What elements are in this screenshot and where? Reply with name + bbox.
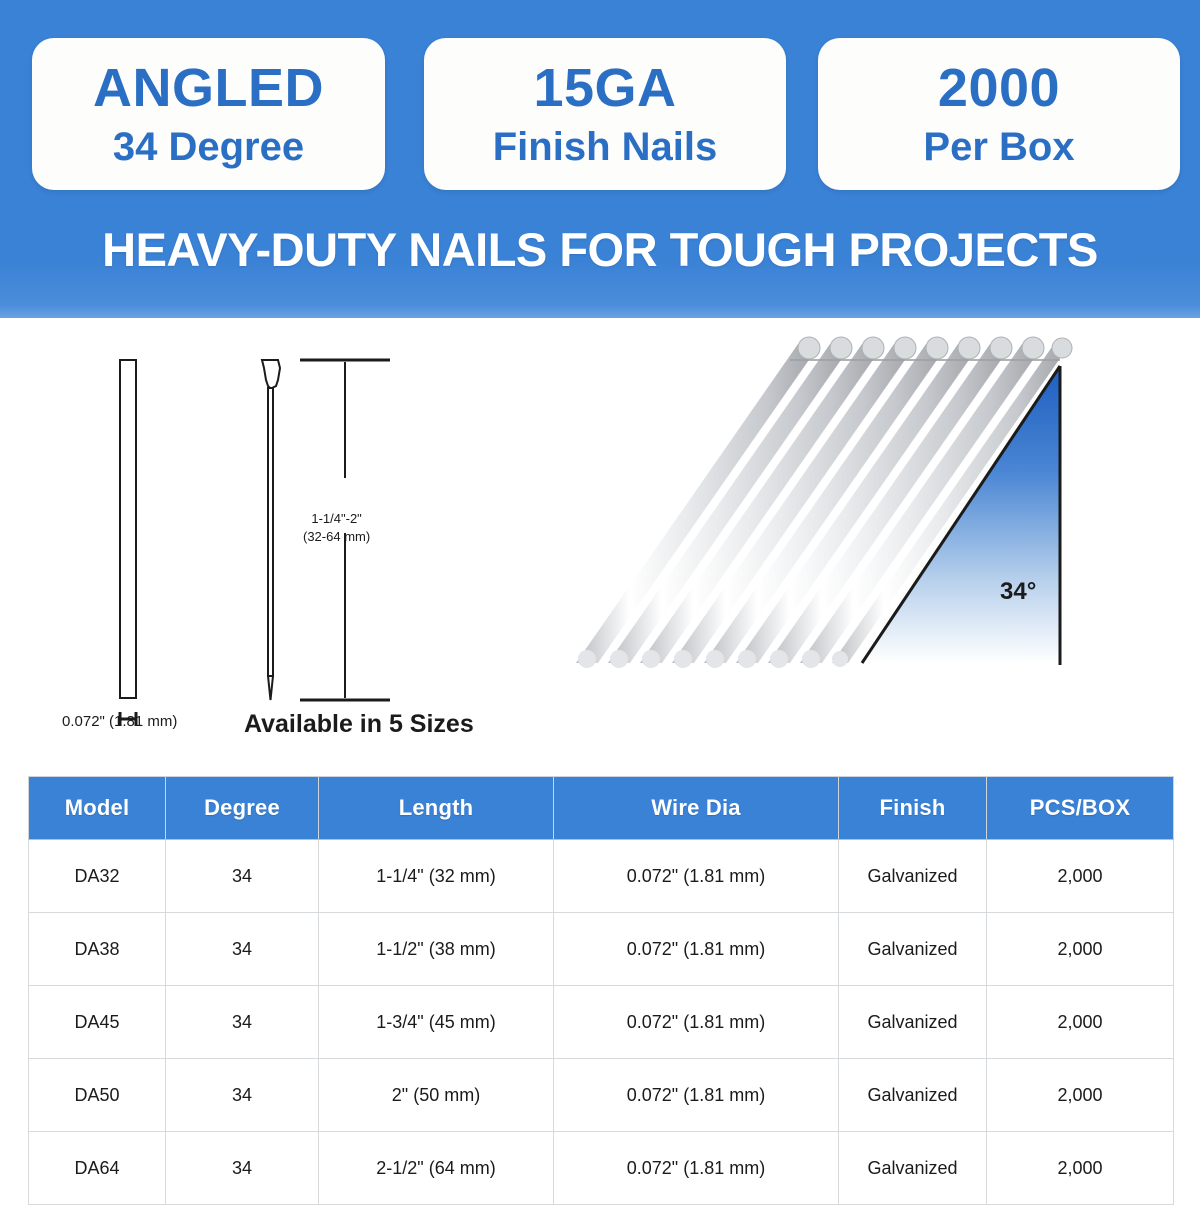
cell-pcs-box: 2,000 <box>987 1059 1174 1132</box>
product-diagram <box>0 318 1200 768</box>
badge-quantity-main: 2000 <box>938 61 1060 115</box>
cell-pcs-box: 2,000 <box>987 913 1174 986</box>
cell-wire-dia: 0.072" (1.81 mm) <box>554 1132 839 1205</box>
banner-headline: HEAVY-DUTY NAILS FOR TOUGH PROJECTS <box>0 222 1200 277</box>
table-header-row: Model Degree Length Wire Dia Finish PCS/… <box>29 777 1174 840</box>
cell-degree: 34 <box>166 1132 319 1205</box>
cell-wire-dia: 0.072" (1.81 mm) <box>554 840 839 913</box>
table-header-pcs-box: PCS/BOX <box>987 777 1174 840</box>
cell-degree: 34 <box>166 1059 319 1132</box>
length-caption-line2: (32-64 mm) <box>303 528 370 546</box>
cell-degree: 34 <box>166 840 319 913</box>
available-sizes-caption: Available in 5 Sizes <box>244 710 474 739</box>
cell-model: DA32 <box>29 840 166 913</box>
table-header-wire-dia: Wire Dia <box>554 777 839 840</box>
table-header-model: Model <box>29 777 166 840</box>
length-caption-line1: 1-1/4"-2" <box>303 510 370 528</box>
cell-wire-dia: 0.072" (1.81 mm) <box>554 986 839 1059</box>
cell-wire-dia: 0.072" (1.81 mm) <box>554 1059 839 1132</box>
cell-length: 1-1/4" (32 mm) <box>319 840 554 913</box>
length-caption: 1-1/4"-2" (32-64 mm) <box>303 510 370 545</box>
cell-model: DA64 <box>29 1132 166 1205</box>
cell-finish: Galvanized <box>839 1059 987 1132</box>
cell-pcs-box: 2,000 <box>987 1132 1174 1205</box>
nail-profile-diagram <box>262 360 280 700</box>
wire-dia-caption: 0.072" (1.81 mm) <box>62 713 177 730</box>
specification-table: Model Degree Length Wire Dia Finish PCS/… <box>28 776 1174 1205</box>
cell-model: DA38 <box>29 913 166 986</box>
table-header-finish: Finish <box>839 777 987 840</box>
cell-model: DA50 <box>29 1059 166 1132</box>
badge-angled-main: ANGLED <box>93 61 324 115</box>
badge-row: ANGLED 34 Degree 15GA Finish Nails 2000 … <box>0 38 1200 190</box>
cell-length: 2-1/2" (64 mm) <box>319 1132 554 1205</box>
table-row: DA64 34 2-1/2" (64 mm) 0.072" (1.81 mm) … <box>29 1132 1174 1205</box>
cell-length: 1-3/4" (45 mm) <box>319 986 554 1059</box>
angled-nail-strip-illustration <box>576 337 1072 668</box>
cell-pcs-box: 2,000 <box>987 986 1174 1059</box>
wire-cross-section-diagram <box>120 360 136 726</box>
badge-angled-sub: 34 Degree <box>113 127 304 167</box>
badge-angled: ANGLED 34 Degree <box>32 38 385 190</box>
cell-wire-dia: 0.072" (1.81 mm) <box>554 913 839 986</box>
table-header-degree: Degree <box>166 777 319 840</box>
badge-gauge-sub: Finish Nails <box>493 127 718 167</box>
table-row: DA38 34 1-1/2" (38 mm) 0.072" (1.81 mm) … <box>29 913 1174 986</box>
badge-gauge: 15GA Finish Nails <box>424 38 786 190</box>
badge-quantity: 2000 Per Box <box>818 38 1180 190</box>
table-row: DA45 34 1-3/4" (45 mm) 0.072" (1.81 mm) … <box>29 986 1174 1059</box>
badge-quantity-sub: Per Box <box>923 127 1074 167</box>
cell-model: DA45 <box>29 986 166 1059</box>
header-banner: ANGLED 34 Degree 15GA Finish Nails 2000 … <box>0 0 1200 318</box>
badge-gauge-main: 15GA <box>533 61 676 115</box>
cell-finish: Galvanized <box>839 913 987 986</box>
cell-degree: 34 <box>166 913 319 986</box>
cell-pcs-box: 2,000 <box>987 840 1174 913</box>
table-header-length: Length <box>319 777 554 840</box>
illustration-area <box>0 318 1200 768</box>
cell-length: 2" (50 mm) <box>319 1059 554 1132</box>
cell-degree: 34 <box>166 986 319 1059</box>
cell-finish: Galvanized <box>839 986 987 1059</box>
cell-finish: Galvanized <box>839 840 987 913</box>
cell-length: 1-1/2" (38 mm) <box>319 913 554 986</box>
angle-caption: 34° <box>1000 578 1036 606</box>
table-row: DA50 34 2" (50 mm) 0.072" (1.81 mm) Galv… <box>29 1059 1174 1132</box>
cell-finish: Galvanized <box>839 1132 987 1205</box>
table-row: DA32 34 1-1/4" (32 mm) 0.072" (1.81 mm) … <box>29 840 1174 913</box>
